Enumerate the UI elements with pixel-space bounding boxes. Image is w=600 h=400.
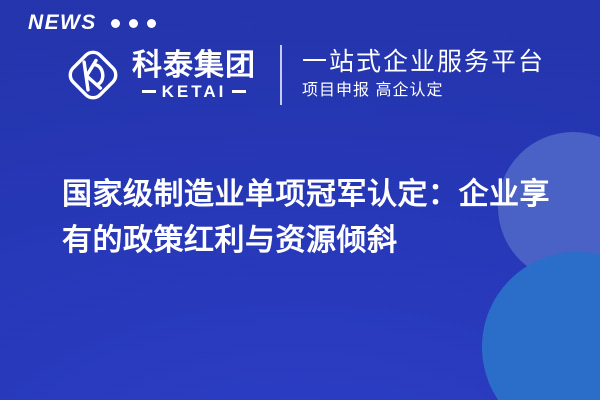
brand-tagline-divider	[280, 45, 282, 105]
tagline-primary: 一站式企业服务平台	[302, 48, 545, 76]
wordmark-rule-right	[232, 90, 246, 93]
kicker-dot	[129, 19, 138, 28]
wordmark-rule-left	[142, 90, 156, 93]
ketai-diamond-kd-monogram-icon	[62, 44, 124, 106]
brand-name-en: KETAI	[162, 83, 227, 100]
decorative-circle-bright	[482, 252, 600, 400]
news-kicker-label: NEWS	[28, 12, 97, 33]
brand-row: 科泰集团 KETAI 一站式企业服务平台 项目申报 高企认定	[62, 44, 545, 106]
tagline-secondary: 项目申报 高企认定	[302, 81, 545, 102]
headline-title: 国家级制造业单项冠军认定：企业享有的政策红利与资源倾斜	[62, 172, 555, 263]
brand-name-cn: 科泰集团	[132, 50, 256, 82]
tagline-block: 一站式企业服务平台 项目申报 高企认定	[302, 48, 545, 102]
kicker-dot	[111, 19, 120, 28]
brand-name-en-row: KETAI	[132, 83, 256, 100]
brand-wordmark: 科泰集团 KETAI	[132, 50, 256, 100]
kicker-row: NEWS	[28, 12, 156, 33]
news-banner: NEWS 科泰集团 KETAI	[0, 0, 600, 400]
kicker-dot	[147, 19, 156, 28]
kicker-dots	[111, 17, 156, 28]
